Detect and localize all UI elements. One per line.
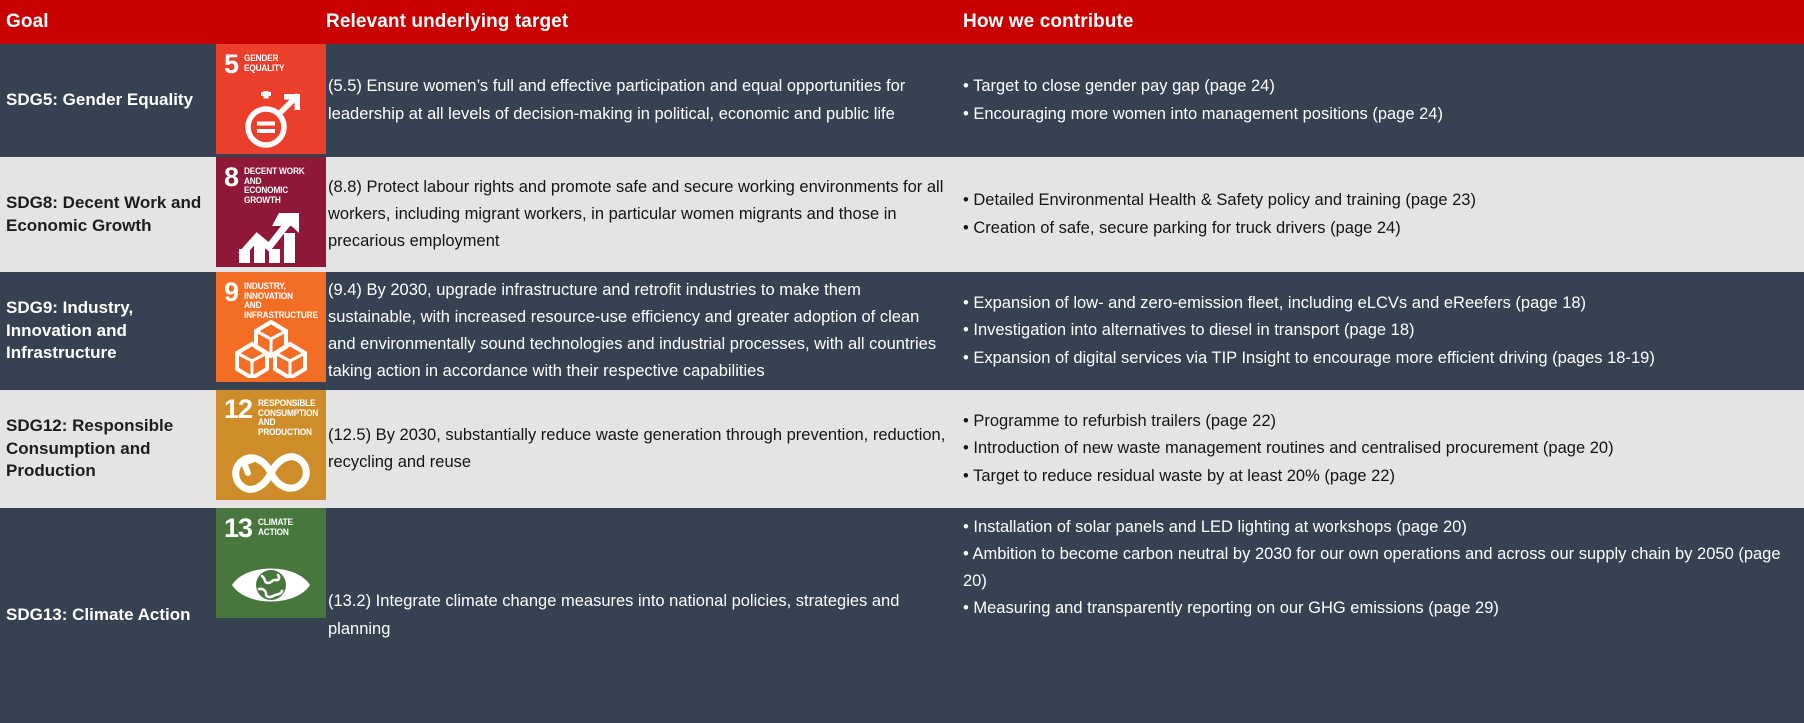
sdg-number: 13 (224, 517, 252, 540)
list-item: • Programme to refurbish trailers (page … (963, 408, 1796, 435)
contribution-list: • Programme to refurbish trailers (page … (955, 390, 1804, 508)
climate-action-icon: 13 CLIMATE ACTION (216, 508, 326, 618)
list-item: • Creation of safe, secure parking for t… (963, 215, 1796, 242)
goal-label: SDG9: Industry, Innovation and Infrastru… (0, 272, 216, 390)
list-item: • Encouraging more women into management… (963, 101, 1796, 128)
sdg-icon-header: 5 GENDER EQUALITY (216, 44, 326, 86)
sdg-alignment-table: Goal Relevant underlying target How we c… (0, 0, 1804, 723)
table-row: SDG13: Climate Action 13 CLIMATE ACTION … (0, 508, 1804, 723)
sdg-icon-header: 12 RESPONSIBLE CONSUMPTION AND PRODUCTIO… (216, 390, 326, 440)
sdg-title: DECENT WORK AND ECONOMIC GROWTH (244, 166, 319, 205)
list-item: • Ambition to become carbon neutral by 2… (963, 541, 1796, 595)
list-item: • Measuring and transparently reporting … (963, 595, 1796, 622)
eye-earth-glyph (216, 554, 326, 616)
industry-innovation-glyph (216, 318, 326, 380)
list-item: • Expansion of low- and zero-emission fl… (963, 290, 1796, 317)
sdg-icon-cell: 5 GENDER EQUALITY (216, 44, 326, 157)
decent-work-glyph (216, 203, 326, 265)
goal-label: SDG5: Gender Equality (0, 44, 216, 157)
column-header-contribute: How we contribute (955, 0, 1804, 44)
sdg-number: 5 (224, 53, 238, 76)
sdg-title: GENDER EQUALITY (244, 53, 284, 73)
sdg-icon-header: 8 DECENT WORK AND ECONOMIC GROWTH (216, 157, 326, 199)
contribution-list: • Target to close gender pay gap (page 2… (955, 44, 1804, 157)
table-row: SDG12: Responsible Consumption and Produ… (0, 390, 1804, 508)
sdg-icon-cell: 13 CLIMATE ACTION (216, 508, 326, 723)
sdg-number: 12 (224, 398, 252, 421)
target-text: (8.8) Protect labour rights and promote … (326, 157, 955, 272)
list-item: • Detailed Environmental Health & Safety… (963, 187, 1796, 214)
list-item: • Installation of solar panels and LED l… (963, 514, 1796, 541)
target-text: (5.5) Ensure women’s full and effective … (326, 44, 955, 157)
table-row: SDG8: Decent Work and Economic Growth 8 … (0, 157, 1804, 272)
table-row: SDG5: Gender Equality 5 GENDER EQUALITY (0, 44, 1804, 157)
column-header-goal: Goal (0, 0, 332, 44)
infinity-glyph (216, 447, 326, 499)
sdg-title: INDUSTRY, INNOVATION AND INFRASTRUCTURE (244, 281, 319, 320)
sdg-number: 9 (224, 281, 238, 304)
column-header-target: Relevant underlying target (326, 0, 955, 44)
sdg-title: CLIMATE ACTION (258, 517, 293, 537)
list-item: • Target to close gender pay gap (page 2… (963, 73, 1796, 100)
industry-innovation-icon: 9 INDUSTRY, INNOVATION AND INFRASTRUCTUR… (216, 272, 326, 382)
target-text: (9.4) By 2030, upgrade infrastructure an… (326, 272, 955, 390)
sdg-icon-cell: 9 INDUSTRY, INNOVATION AND INFRASTRUCTUR… (216, 272, 326, 390)
gender-equality-icon: 5 GENDER EQUALITY (216, 44, 326, 154)
sdg-icon-cell: 12 RESPONSIBLE CONSUMPTION AND PRODUCTIO… (216, 390, 326, 508)
sdg-number: 8 (224, 166, 238, 189)
goal-label: SDG13: Climate Action (0, 508, 216, 723)
goal-label: SDG12: Responsible Consumption and Produ… (0, 390, 216, 508)
sdg-icon-header: 13 CLIMATE ACTION (216, 508, 326, 550)
sdg-icon-header: 9 INDUSTRY, INNOVATION AND INFRASTRUCTUR… (216, 272, 326, 314)
contribution-list: • Installation of solar panels and LED l… (955, 508, 1804, 723)
responsible-consumption-icon: 12 RESPONSIBLE CONSUMPTION AND PRODUCTIO… (216, 390, 326, 500)
decent-work-growth-icon: 8 DECENT WORK AND ECONOMIC GROWTH (216, 157, 326, 267)
target-text: (13.2) Integrate climate change measures… (326, 508, 955, 723)
list-item: • Target to reduce residual waste by at … (963, 463, 1796, 490)
list-item: • Introduction of new waste management r… (963, 435, 1796, 462)
target-text: (12.5) By 2030, substantially reduce was… (326, 390, 955, 508)
list-item: • Investigation into alternatives to die… (963, 317, 1796, 344)
sdg-title: RESPONSIBLE CONSUMPTION AND PRODUCTION (258, 398, 321, 437)
table-header-row: Goal Relevant underlying target How we c… (0, 0, 1804, 44)
contribution-list: • Expansion of low- and zero-emission fl… (955, 272, 1804, 390)
list-item: • Expansion of digital services via TIP … (963, 345, 1796, 372)
table-row: SDG9: Industry, Innovation and Infrastru… (0, 272, 1804, 390)
gender-equality-glyph (216, 90, 326, 152)
contribution-list: • Detailed Environmental Health & Safety… (955, 157, 1804, 272)
sdg-icon-cell: 8 DECENT WORK AND ECONOMIC GROWTH (216, 157, 326, 272)
goal-label: SDG8: Decent Work and Economic Growth (0, 157, 216, 272)
